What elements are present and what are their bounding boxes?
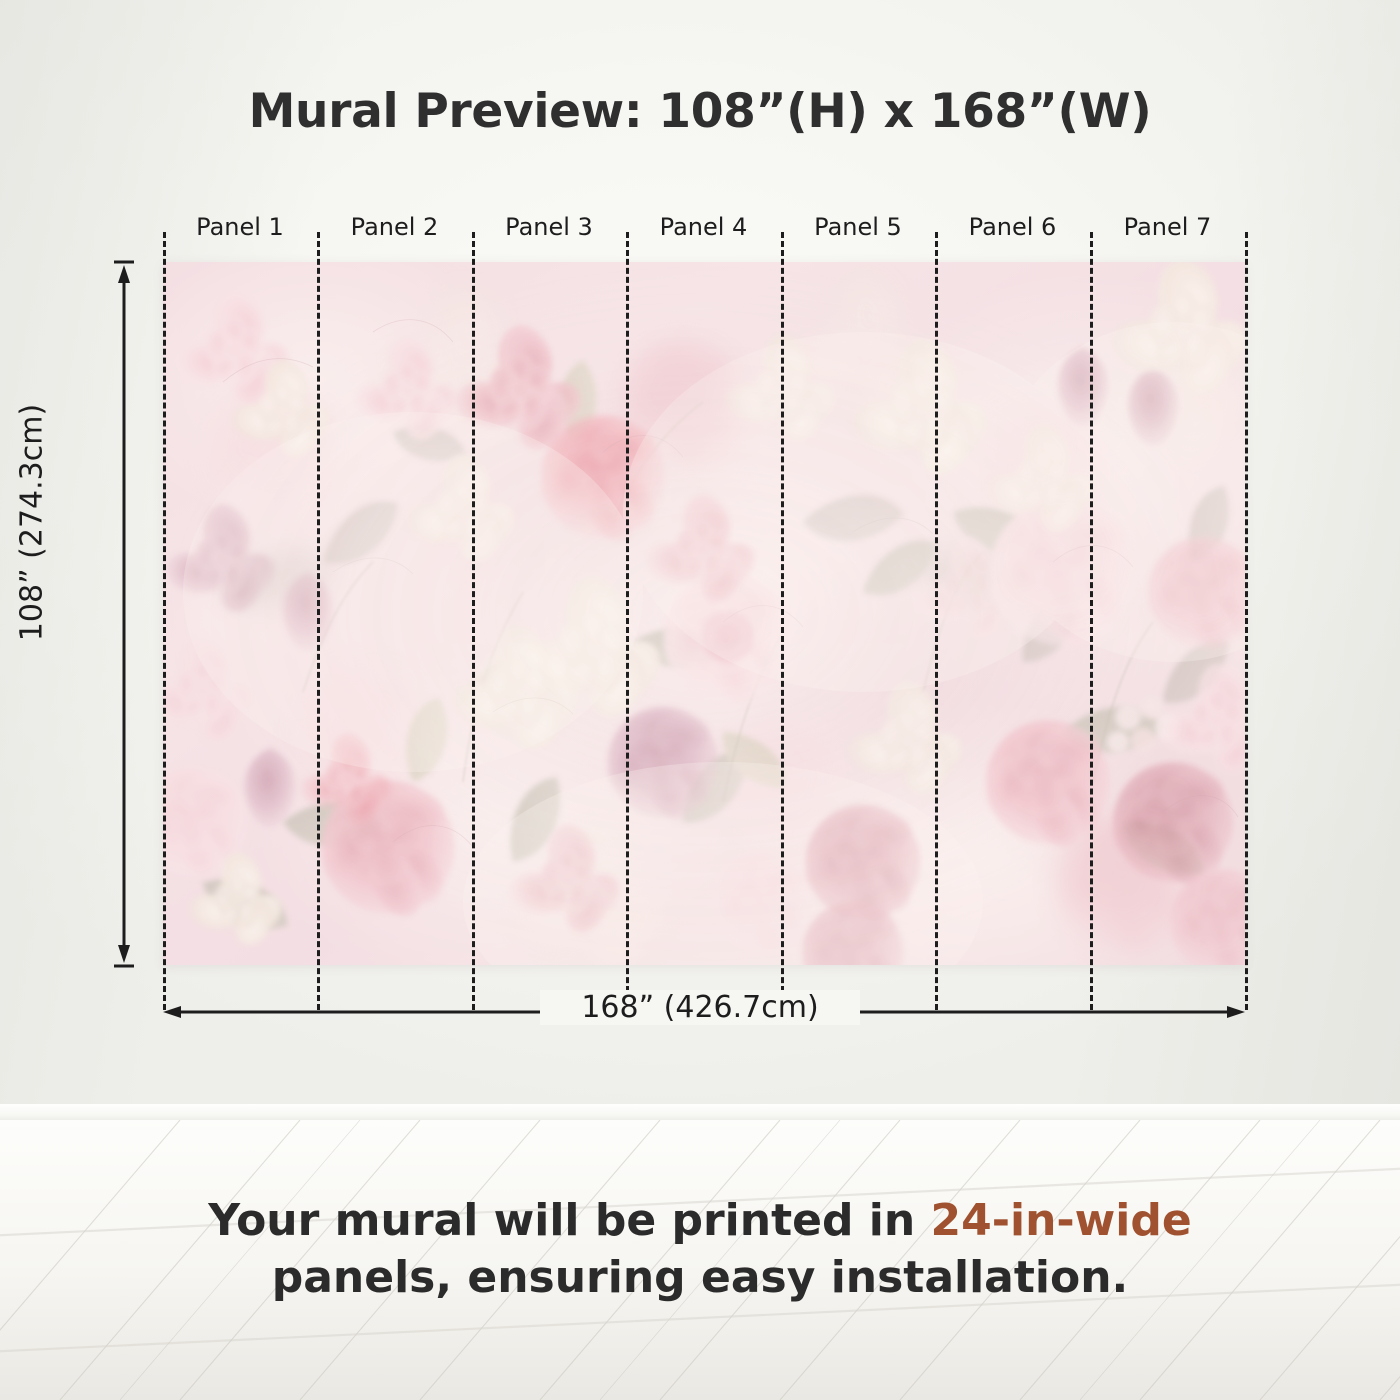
caption-line-1-text: Your mural will be printed in: [208, 1195, 930, 1246]
panel-divider-5: [935, 232, 938, 1010]
panel-divider-6: [1090, 232, 1093, 1010]
panel-label-5: Panel 5: [781, 213, 935, 241]
panel-label-7: Panel 7: [1090, 213, 1245, 241]
page-title: Mural Preview: 108”(H) x 168”(W): [0, 84, 1400, 139]
panel-divider-1: [317, 232, 320, 1010]
panel-divider-3: [626, 232, 629, 1010]
panel-label-3: Panel 3: [472, 213, 626, 241]
panel-label-6: Panel 6: [935, 213, 1090, 241]
caption-accent-text: 24-in-wide: [931, 1195, 1192, 1246]
height-dimension-arrow: [108, 255, 140, 973]
panel-label-2: Panel 2: [317, 213, 472, 241]
caption-line-1: Your mural will be printed in 24-in-wide: [0, 1192, 1400, 1249]
panel-divider-2: [472, 232, 475, 1010]
mural-artwork: [163, 262, 1245, 965]
mural-preview-scene: Mural Preview: 108”(H) x 168”(W): [0, 0, 1400, 1400]
height-dimension-label: 108” (274.3cm): [15, 313, 50, 733]
installation-caption: Your mural will be printed in 24-in-wide…: [0, 1192, 1400, 1306]
panel-label-4: Panel 4: [626, 213, 781, 241]
mural-right-edge: [1245, 232, 1248, 1010]
mural-left-edge: [163, 232, 166, 1010]
width-dimension-label: 168” (426.7cm): [540, 990, 860, 1025]
caption-line-2: panels, ensuring easy installation.: [0, 1249, 1400, 1306]
panel-label-1: Panel 1: [163, 213, 317, 241]
panel-divider-4: [781, 232, 784, 1010]
